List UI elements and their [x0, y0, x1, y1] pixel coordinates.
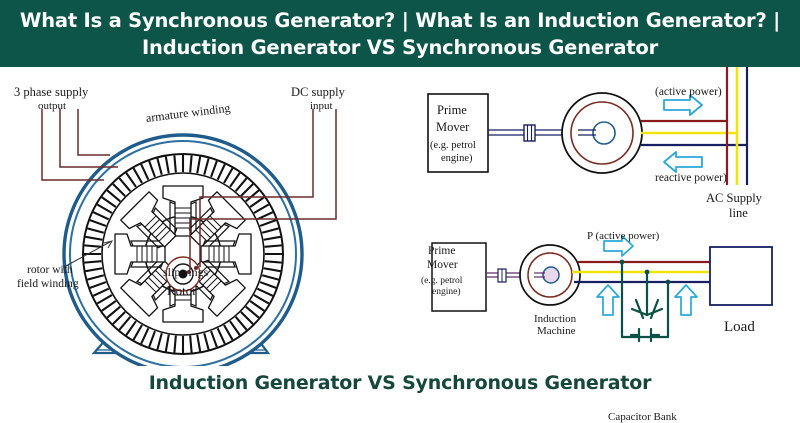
label-three-phase-supply: 3 phase supply: [14, 85, 88, 100]
cap-tap-node-3: [666, 280, 671, 285]
page-title-line-1: What Is a Synchronous Generator? | What …: [20, 9, 780, 32]
cap-tap-node-1: [620, 260, 625, 265]
active-power-arrow: [664, 95, 702, 115]
sync-prime-mover-line-1: Prime: [437, 103, 467, 118]
label-rotor: Rotor: [167, 283, 197, 299]
label-reactive-power: reactive power): [655, 172, 727, 184]
reactive-power-arrow: [664, 152, 702, 172]
page-title-line-2: Induction Generator VS Synchronous Gener…: [142, 36, 658, 59]
page-footer-caption: Induction Generator VS Synchronous Gener…: [0, 366, 800, 400]
sync-prime-mover-line-4: engine): [441, 153, 473, 164]
label-ac-supply-line-2: line: [729, 206, 748, 221]
label-active-power: (active power): [655, 86, 722, 98]
screenshot-root: What Is a Synchronous Generator? | What …: [0, 0, 800, 400]
ind-prime-mover-line-4: engine): [432, 287, 461, 297]
label-dc-input: input: [310, 100, 333, 112]
label-field-winding: field winding: [17, 278, 79, 290]
page-title: What Is a Synchronous Generator? | What …: [20, 7, 780, 61]
ind-prime-mover-line-3: (e.g. petrol: [421, 276, 462, 286]
load-box: [710, 247, 772, 305]
shaft-coupling: [524, 125, 535, 141]
label-load: Load: [724, 319, 755, 336]
diagram-stage: 3 phase supply output DC supply input ar…: [0, 67, 800, 366]
label-slip-rings: slip-rings: [163, 265, 208, 280]
ind-q-arrow-right: [675, 285, 697, 315]
label-dc-supply: DC supply: [291, 85, 345, 100]
ac-supply-bus: [727, 67, 747, 185]
label-p-active-power: P (active power): [587, 230, 659, 242]
footer-caption-text: Induction Generator VS Synchronous Gener…: [149, 372, 652, 394]
label-induction-machine-1: Induction: [534, 313, 576, 325]
sync-prime-mover-line-2: Mover: [436, 120, 469, 135]
generator-hub: [593, 122, 615, 144]
ind-phase-wires: [572, 262, 710, 282]
label-ac-supply-line-1: AC Supply: [706, 191, 762, 206]
ind-prime-mover-line-2: Mover: [427, 259, 458, 271]
phase-wires: [641, 121, 747, 145]
capacitor-bank: [622, 262, 668, 341]
cap-tap-node-2: [645, 270, 650, 275]
label-rotor-with: rotor with: [27, 264, 73, 276]
ind-q-arrow-left: [597, 285, 619, 315]
ind-shaft-coupling: [498, 269, 506, 282]
page-header-banner: What Is a Synchronous Generator? | What …: [0, 0, 800, 67]
label-induction-machine-2: Machine: [537, 325, 575, 337]
label-capacitor-bank: Capacitor Bank: [608, 411, 677, 423]
induction-machine-hub: [543, 267, 559, 283]
label-three-phase-output: output: [38, 100, 66, 112]
ind-prime-mover-line-1: Prime: [428, 245, 455, 257]
sync-prime-mover-line-3: (e.g. petrol: [430, 140, 476, 151]
